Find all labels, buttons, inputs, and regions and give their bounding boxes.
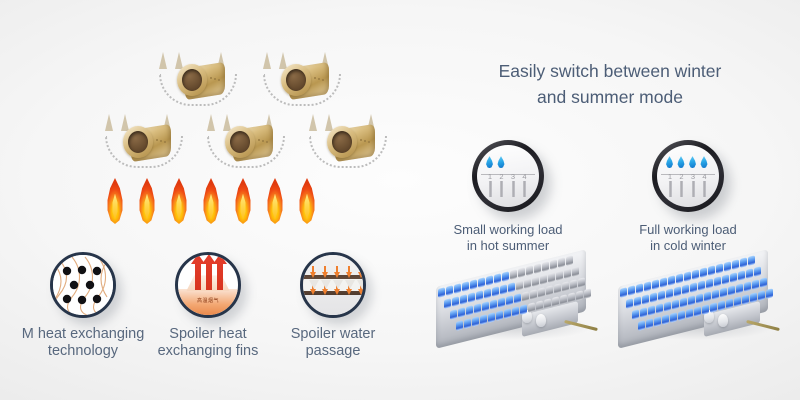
water-droplet-icon	[497, 156, 506, 168]
flame-icon	[136, 178, 158, 224]
burner-flame-lit	[670, 312, 677, 323]
burner-flame-lit	[726, 298, 733, 309]
gauge-face: 1234	[657, 145, 719, 207]
feature-label: Spoiler heat exchanging fins	[141, 326, 275, 359]
burner-flame-lit	[680, 297, 687, 308]
flow-arrow	[346, 272, 352, 278]
burner-flame-lit	[444, 298, 451, 309]
burner-flame-lit	[698, 280, 705, 291]
burner-flame-lit	[714, 276, 721, 287]
hot-gas-caption: 高温烟气	[178, 297, 238, 304]
gauge-number: 1	[665, 172, 675, 181]
brass-nozzle-icon	[281, 64, 329, 98]
flame-icon	[296, 178, 318, 224]
burner-flame-lit	[682, 284, 689, 295]
burner-flame-lit	[702, 304, 709, 315]
headline-line-1: Easily switch between winter	[499, 61, 722, 81]
burner-flame-unlit	[530, 289, 537, 300]
burner-flame-lit	[496, 310, 503, 321]
gauge-number: 2	[497, 172, 507, 181]
heat-arrow	[195, 262, 201, 290]
feature-m-heat-exchanging-technology[interactable]: M heat exchanging technology	[50, 252, 116, 318]
burner-flame-lit	[678, 310, 685, 321]
burner-flame-lit	[722, 274, 729, 285]
flame-icon	[264, 178, 286, 224]
burner-flame-unlit	[560, 294, 567, 305]
burner-flame-unlit	[584, 288, 591, 299]
brass-nozzle-icon	[327, 126, 375, 160]
burner-flame-lit	[706, 278, 713, 289]
burner-nozzle-airflow-diagram	[95, 52, 335, 170]
nozzle-unit	[205, 114, 283, 166]
burner-flame-lit	[758, 290, 765, 301]
nozzle-unit	[103, 114, 181, 166]
burner-flame-lit	[480, 314, 487, 325]
gauge-number: 3	[508, 172, 518, 181]
burner-flame-unlit	[536, 300, 543, 311]
burner-flame-lit	[730, 272, 737, 283]
burner-flame-lit	[468, 292, 475, 303]
burner-flame-unlit	[570, 279, 577, 290]
nozzle-opening	[128, 131, 148, 153]
burner-flame-unlit	[556, 270, 563, 281]
spoiler-tooth	[345, 280, 355, 289]
burner-flame-lit	[506, 295, 513, 306]
burner-flame-lit	[716, 263, 723, 274]
nozzle-opening	[332, 131, 352, 153]
burner-flame-lit	[504, 308, 511, 319]
burner-flame-lit	[460, 294, 467, 305]
burner-flame-lit	[666, 288, 673, 299]
gauge-bar	[669, 181, 672, 197]
flow-arrow	[310, 272, 316, 278]
heat-arrow	[217, 262, 223, 290]
burner-flame-lit	[642, 294, 649, 305]
flame-icon	[104, 178, 126, 224]
burner-flame-lit	[478, 277, 485, 288]
spoiler-tooth	[321, 280, 331, 289]
burner-flame-lit	[456, 320, 463, 331]
burner-flame-unlit	[552, 296, 559, 307]
airflow-arrow	[207, 114, 215, 131]
burner-flame-lit	[450, 309, 457, 320]
burner-valve-knob	[718, 314, 728, 327]
gauge-bar	[512, 181, 515, 197]
gauge-number: 4	[700, 172, 710, 181]
burner-flame-lit	[476, 290, 483, 301]
nozzle-opening	[230, 131, 250, 153]
burner-flame-lit	[492, 286, 499, 297]
flow-arrow	[334, 272, 340, 278]
nozzle-ring	[177, 64, 207, 96]
gauge-number: 2	[677, 172, 687, 181]
flow-arrow	[358, 272, 364, 278]
burner-flame-unlit	[532, 276, 539, 287]
burner-flame-lit	[464, 318, 471, 329]
burner-flame-lit	[454, 283, 461, 294]
burner-flame-lit	[732, 259, 739, 270]
nozzle-vents	[258, 139, 267, 143]
burner-flame-unlit	[546, 285, 553, 296]
burner-flame-lit	[484, 288, 491, 299]
gauge-bar	[523, 181, 526, 197]
burner-flame-lit	[628, 285, 635, 296]
water-droplet-icon	[688, 156, 697, 168]
flow-arrow	[358, 289, 364, 295]
page-title: Easily switch between winter and summer …	[440, 58, 780, 111]
burner-flame-lit	[466, 305, 473, 316]
nozzle-ring	[225, 126, 255, 158]
feature-spoiler-heat-exchanging-fins[interactable]: 高温烟气 Spoiler heat exchanging fins	[175, 252, 241, 318]
gauge-face: 1234	[477, 145, 539, 207]
burner-flame-lit	[626, 298, 633, 309]
burner-flame-lit	[636, 283, 643, 294]
water-droplet-icon	[677, 156, 686, 168]
burner-flame-lit	[742, 294, 749, 305]
burner-flame-lit	[446, 285, 453, 296]
nozzle-ring	[327, 126, 357, 158]
nozzle-ring	[123, 126, 153, 158]
flame-icon	[232, 178, 254, 224]
burner-flame-lit	[710, 302, 717, 313]
gauge-bar	[692, 181, 695, 197]
burner-flame-unlit	[540, 274, 547, 285]
burner-flame-lit	[712, 289, 719, 300]
nozzle-unit	[157, 52, 235, 104]
water-passage-band-icon	[300, 252, 366, 318]
heat-arrow	[206, 262, 212, 290]
flow-arrow	[322, 289, 328, 295]
burner-flame-unlit	[576, 290, 583, 301]
burner-flame-lit	[644, 281, 651, 292]
tube-cross-section-icon	[50, 252, 116, 318]
gauge-label-line-1: Full working load	[639, 222, 737, 237]
burner-flame-lit	[438, 287, 445, 298]
burner-flame-unlit	[542, 261, 549, 272]
burner-flame-lit	[514, 293, 521, 304]
nozzle-vents	[210, 77, 219, 81]
flame-row	[104, 178, 318, 224]
burner-flame-unlit	[558, 257, 565, 268]
burner-flame-lit	[650, 292, 657, 303]
burner-flame-lit	[656, 303, 663, 314]
water-droplet-icon	[700, 156, 709, 168]
burner-flame-lit	[686, 308, 693, 319]
burner-flame-lit	[720, 287, 727, 298]
airflow-arrow	[159, 52, 167, 69]
burner-flame-lit	[640, 307, 647, 318]
burner-flame-lit	[646, 318, 653, 329]
nozzle-vents	[156, 139, 165, 143]
headline-line-2: and summer mode	[537, 87, 683, 107]
water-droplet-icon	[665, 156, 674, 168]
burner-flame-lit	[724, 261, 731, 272]
feature-spoiler-water-passage[interactable]: Spoiler water passage	[300, 252, 366, 318]
gauge-bar	[680, 181, 683, 197]
burner-flame-unlit	[554, 283, 561, 294]
burner-flame-lit	[704, 291, 711, 302]
burner-flame-unlit	[550, 259, 557, 270]
burner-flame-lit	[520, 304, 527, 315]
nozzle-opening	[286, 69, 306, 91]
nozzle-ring	[281, 64, 311, 96]
flow-arrow	[334, 289, 340, 295]
gauge-label-line-1: Small working load	[453, 222, 562, 237]
infographic-canvas: M heat exchanging technology 高温烟气 Spoile…	[0, 0, 800, 400]
burner-flame-lit	[750, 292, 757, 303]
burner-flame-lit	[692, 269, 699, 280]
nozzle-opening	[182, 69, 202, 91]
spoiler-tooth	[333, 280, 343, 289]
gauge-bar	[703, 181, 706, 197]
nozzle-vents	[360, 139, 369, 143]
gauge-bar	[500, 181, 503, 197]
burner-valve-knob	[536, 314, 546, 327]
burner-flame-lit	[684, 271, 691, 282]
burner-flame-unlit	[544, 298, 551, 309]
burner-flame-unlit	[510, 269, 517, 280]
burner-flame-lit	[728, 285, 735, 296]
burner-flame-lit	[766, 288, 773, 299]
burner-flame-lit	[744, 281, 751, 292]
burner-flame-lit	[690, 282, 697, 293]
burner-flame-lit	[486, 275, 493, 286]
burner-flame-unlit	[562, 281, 569, 292]
burner-unit-summer	[426, 248, 602, 356]
feature-label: M heat exchanging technology	[16, 326, 150, 359]
burner-flame-lit	[746, 268, 753, 279]
burner-flame-unlit	[538, 287, 545, 298]
burner-flame-lit	[452, 296, 459, 307]
burner-flame-lit	[472, 316, 479, 327]
feature-label: Spoiler water passage	[266, 326, 400, 359]
burner-flame-lit	[490, 299, 497, 310]
burner-flame-lit	[638, 320, 645, 331]
burner-flame-lit	[662, 314, 669, 325]
burner-flame-lit	[694, 306, 701, 317]
airflow-arrow	[105, 114, 113, 131]
burner-flame-lit	[718, 300, 725, 311]
burner-flame-lit	[458, 307, 465, 318]
burner-flame-lit	[688, 295, 695, 306]
burner-flame-lit	[736, 283, 743, 294]
gauge-small-working-load[interactable]: 1234 Small working load in hot summer	[472, 140, 544, 212]
burner-flame-lit	[652, 279, 659, 290]
right-panel: Easily switch between winter and summer …	[420, 0, 800, 400]
burner-flame-lit	[474, 303, 481, 314]
burner-flame-lit	[508, 282, 515, 293]
burner-flame-lit	[664, 301, 671, 312]
burner-flame-lit	[488, 312, 495, 323]
burner-flame-lit	[502, 271, 509, 282]
burner-flame-lit	[498, 297, 505, 308]
flow-arrow	[310, 289, 316, 295]
burner-flame-lit	[676, 273, 683, 284]
burner-flame-unlit	[564, 268, 571, 279]
burner-flame-lit	[700, 267, 707, 278]
burner-flame-lit	[660, 277, 667, 288]
burner-unit-winter	[608, 248, 784, 356]
nozzle-vents	[314, 77, 323, 81]
brass-nozzle-icon	[177, 64, 225, 98]
flame-icon	[168, 178, 190, 224]
water-droplet-icon	[485, 156, 494, 168]
burner-flame-lit	[734, 296, 741, 307]
burner-flame-unlit	[518, 267, 525, 278]
gauge-number: 4	[520, 172, 530, 181]
tube-cross-section-svg	[53, 255, 113, 315]
burner-flame-unlit	[568, 292, 575, 303]
burner-flame-lit	[620, 287, 627, 298]
left-panel: M heat exchanging technology 高温烟气 Spoile…	[0, 0, 420, 400]
burner-flame-lit	[648, 305, 655, 316]
brass-nozzle-icon	[225, 126, 273, 160]
burner-flame-lit	[752, 279, 759, 290]
brass-nozzle-icon	[123, 126, 171, 160]
flow-arrow	[346, 289, 352, 295]
burner-flame-lit	[654, 316, 661, 327]
burner-flame-lit	[668, 275, 675, 286]
burner-flame-lit	[696, 293, 703, 304]
nozzle-unit	[261, 52, 339, 104]
rising-heat-arrows-icon: 高温烟气	[175, 252, 241, 318]
burner-flame-unlit	[526, 265, 533, 276]
flow-arrow	[322, 272, 328, 278]
burner-flame-lit	[462, 281, 469, 292]
gauge-number: 1	[485, 172, 495, 181]
burner-flame-lit	[494, 273, 501, 284]
burner-flame-lit	[658, 290, 665, 301]
spoiler-tooth	[357, 280, 366, 289]
burner-flame-unlit	[534, 263, 541, 274]
burner-flame-lit	[482, 301, 489, 312]
burner-flame-lit	[632, 309, 639, 320]
burner-flame-lit	[634, 296, 641, 307]
burner-flame-lit	[512, 306, 519, 317]
spoiler-tooth	[309, 280, 319, 289]
burner-flame-lit	[672, 299, 679, 310]
burner-flame-lit	[470, 279, 477, 290]
burner-flame-unlit	[524, 278, 531, 289]
burner-flame-lit	[740, 257, 747, 268]
burner-flame-unlit	[548, 272, 555, 283]
flame-icon	[200, 178, 222, 224]
gauge-bar	[489, 181, 492, 197]
gauge-full-working-load[interactable]: 1234 Full working load in cold winter	[652, 140, 724, 212]
burner-flame-unlit	[522, 291, 529, 302]
burner-flame-unlit	[528, 302, 535, 313]
burner-flame-lit	[674, 286, 681, 297]
gauge-number: 3	[688, 172, 698, 181]
burner-flame-lit	[708, 265, 715, 276]
burner-flame-lit	[500, 284, 507, 295]
burner-flame-unlit	[516, 280, 523, 291]
burner-flame-lit	[738, 270, 745, 281]
nozzle-unit	[307, 114, 385, 166]
airflow-arrow	[309, 114, 317, 131]
airflow-arrow	[263, 52, 271, 69]
